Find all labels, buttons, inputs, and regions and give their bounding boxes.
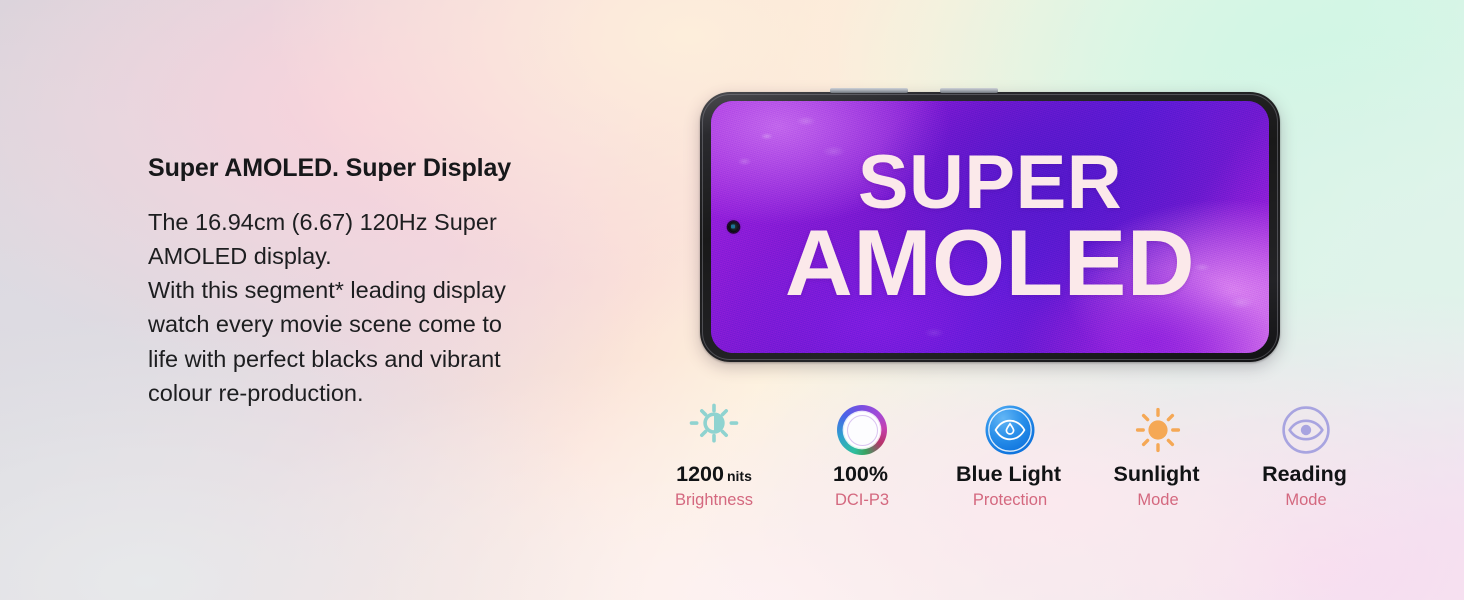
feature-caption: DCI-P3 (835, 491, 889, 510)
feature-item-dci-p3: 100% DCI-P3 (788, 398, 936, 538)
volume-button (830, 88, 908, 93)
phone-screen: SUPER AMOLED (711, 101, 1269, 353)
front-camera-icon (728, 222, 739, 233)
description-line: The 16.94cm (6.67) 120Hz Super (148, 205, 648, 239)
screen-headline-line2: AMOLED (785, 220, 1195, 306)
feature-value: Blue Light (956, 462, 1064, 487)
color-wheel-center (844, 412, 880, 448)
brightness-icon (685, 398, 743, 462)
power-button (940, 88, 998, 93)
feature-number: Blue Light (956, 462, 1061, 486)
blue-light-eye-icon (984, 398, 1036, 462)
feature-unit: nits (727, 468, 752, 484)
feature-item-blue-light: Blue Light Protection (936, 398, 1084, 538)
feature-caption: Mode (1285, 491, 1326, 510)
description-line: watch every movie scene come to (148, 307, 648, 341)
feature-number: 100% (833, 462, 888, 486)
description-line: life with perfect blacks and vibrant (148, 342, 648, 376)
feature-caption: Brightness (675, 491, 753, 510)
page-title: Super AMOLED. Super Display (148, 155, 648, 183)
feature-item-sunlight: Sunlight Mode (1084, 398, 1232, 538)
description-line: colour re-production. (148, 376, 648, 410)
feature-caption: Mode (1137, 491, 1178, 510)
feature-number: 1200 (676, 462, 724, 486)
phone-product-image: SUPER AMOLED (700, 92, 1280, 362)
description-line: With this segment* leading display (148, 273, 648, 307)
screen-headline: SUPER AMOLED (711, 101, 1269, 353)
feature-number: Reading (1262, 462, 1347, 486)
color-wheel-icon (837, 398, 887, 462)
feature-caption: Protection (973, 491, 1047, 510)
feature-item-brightness: 1200nits Brightness (640, 398, 788, 538)
sun-icon (1131, 398, 1185, 462)
feature-value: 1200nits (676, 462, 752, 487)
feature-value: Reading (1262, 462, 1350, 487)
phone-frame: SUPER AMOLED (700, 92, 1280, 362)
feature-value: 100% (833, 462, 891, 487)
feature-number: Sunlight (1114, 462, 1200, 486)
reading-eye-icon (1279, 398, 1333, 462)
marketing-copy-block: Super AMOLED. Super Display The 16.94cm … (148, 155, 648, 410)
color-wheel-ring (837, 405, 887, 455)
screen-headline-line1: SUPER (858, 148, 1122, 218)
feature-highlights-row: 1200nits Brightness 100% DCI-P3 (640, 398, 1380, 538)
description-paragraph: The 16.94cm (6.67) 120Hz Super AMOLED di… (148, 205, 648, 411)
feature-value: Sunlight (1114, 462, 1203, 487)
feature-item-reading: Reading Mode (1232, 398, 1380, 538)
description-line: AMOLED display. (148, 239, 648, 273)
